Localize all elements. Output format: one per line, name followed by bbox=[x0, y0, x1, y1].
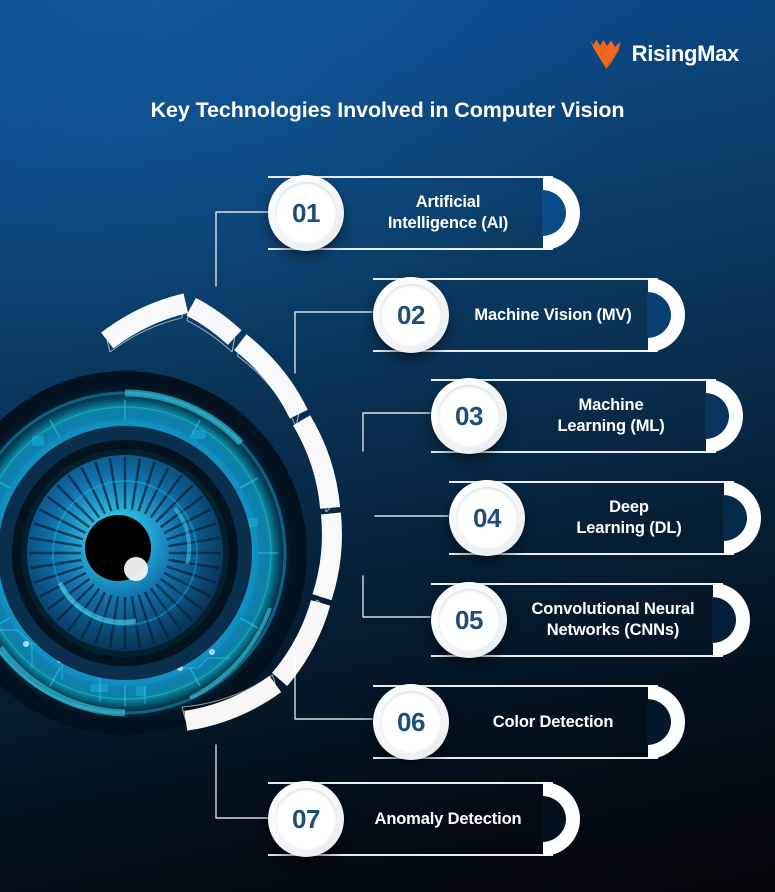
item-label-text: Artificial Intelligence (AI) bbox=[388, 192, 508, 233]
item-number: 01 bbox=[292, 198, 320, 229]
list-item[interactable]: Color Detection 06 bbox=[373, 685, 685, 759]
item-number: 05 bbox=[455, 605, 483, 636]
page-title: Key Technologies Involved in Computer Vi… bbox=[0, 98, 775, 123]
list-item[interactable]: Artificial Intelligence (AI) 01 bbox=[268, 176, 580, 250]
list-item[interactable]: Machine Learning (ML) 03 bbox=[431, 379, 743, 453]
item-number-badge[interactable]: 07 bbox=[268, 781, 344, 857]
item-label: Machine Learning (ML) bbox=[511, 379, 711, 453]
item-label: Artificial Intelligence (AI) bbox=[348, 176, 548, 250]
item-number-badge[interactable]: 05 bbox=[431, 582, 507, 658]
list-item[interactable]: Deep Learning (DL) 04 bbox=[449, 481, 761, 555]
list-item[interactable]: Convolutional Neural Networks (CNNs) 05 bbox=[431, 583, 751, 657]
item-endcap bbox=[648, 685, 685, 759]
infographic-canvas: RisingMax Key Technologies Involved in C… bbox=[0, 0, 775, 892]
item-endcap bbox=[543, 176, 580, 250]
item-label-text: Convolutional Neural Networks (CNNs) bbox=[532, 599, 695, 640]
item-endcap bbox=[706, 379, 743, 453]
item-number-badge[interactable]: 04 bbox=[449, 480, 525, 556]
item-label: Machine Vision (MV) bbox=[453, 278, 653, 352]
item-label-text: Machine Vision (MV) bbox=[474, 305, 631, 326]
item-label-text: Anomaly Detection bbox=[375, 809, 522, 830]
item-label: Color Detection bbox=[453, 685, 653, 759]
item-number: 03 bbox=[455, 401, 483, 432]
item-number: 07 bbox=[292, 804, 320, 835]
list-item[interactable]: Machine Vision (MV) 02 bbox=[373, 278, 685, 352]
item-number-badge[interactable]: 03 bbox=[431, 378, 507, 454]
item-number: 04 bbox=[473, 503, 501, 534]
item-number-badge[interactable]: 01 bbox=[268, 175, 344, 251]
brand-logo: RisingMax bbox=[589, 38, 739, 70]
item-number-badge[interactable]: 06 bbox=[373, 684, 449, 760]
brand-name: RisingMax bbox=[632, 41, 739, 67]
item-endcap bbox=[543, 782, 580, 856]
item-endcap bbox=[724, 481, 761, 555]
item-label: Anomaly Detection bbox=[348, 782, 548, 856]
item-label-text: Deep Learning (DL) bbox=[576, 497, 681, 538]
rising-arrow-icon bbox=[589, 38, 623, 70]
list-item[interactable]: Anomaly Detection 07 bbox=[268, 782, 580, 856]
item-number: 02 bbox=[397, 300, 425, 331]
item-number: 06 bbox=[397, 707, 425, 738]
item-number-badge[interactable]: 02 bbox=[373, 277, 449, 353]
item-label-text: Machine Learning (ML) bbox=[557, 395, 664, 436]
item-label: Convolutional Neural Networks (CNNs) bbox=[507, 583, 719, 657]
item-label: Deep Learning (DL) bbox=[529, 481, 729, 555]
item-label-text: Color Detection bbox=[493, 712, 614, 733]
digital-eye-icon bbox=[0, 368, 310, 738]
item-endcap bbox=[648, 278, 685, 352]
